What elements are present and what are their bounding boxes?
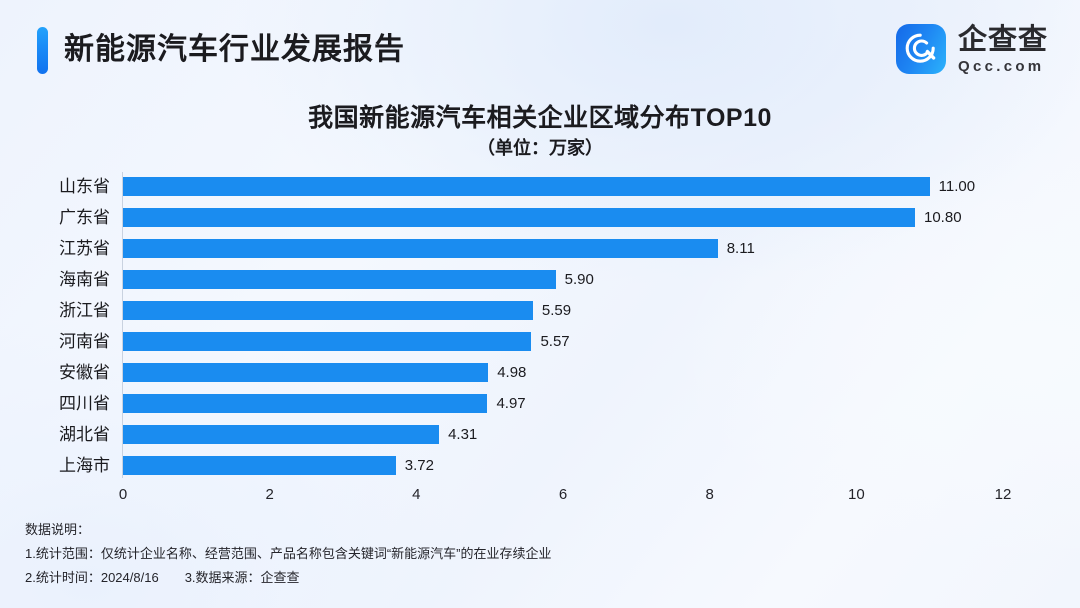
bar-row: 上海市3.72 bbox=[0, 450, 1080, 481]
bar-value-label: 10.80 bbox=[924, 202, 962, 233]
x-axis: 024681012 bbox=[0, 484, 1080, 510]
bar[interactable] bbox=[123, 208, 915, 227]
bar-chart-plot: 山东省11.00广东省10.80江苏省8.11海南省5.90浙江省5.59河南省… bbox=[0, 168, 1080, 480]
bar-row: 广东省10.80 bbox=[0, 202, 1080, 233]
footnote-time-source: 2.统计时间：2024/8/163.数据来源：企查查 bbox=[25, 566, 1045, 590]
bar-category-label: 安徽省 bbox=[0, 357, 110, 388]
bar[interactable] bbox=[123, 332, 531, 351]
brand-name-cn: 企查查 bbox=[958, 24, 1048, 56]
x-axis-tick-label: 2 bbox=[240, 484, 300, 506]
chart-subtitle: （单位：万家） bbox=[0, 134, 1080, 160]
bar[interactable] bbox=[123, 177, 930, 196]
footnote-source: 3.数据来源：企查查 bbox=[185, 570, 300, 585]
footnote-time: 2.统计时间：2024/8/16 bbox=[25, 570, 159, 585]
bar-category-label: 江苏省 bbox=[0, 233, 110, 264]
bar-row: 安徽省4.98 bbox=[0, 357, 1080, 388]
bar[interactable] bbox=[123, 239, 718, 258]
bar-category-label: 海南省 bbox=[0, 264, 110, 295]
bar[interactable] bbox=[123, 301, 533, 320]
bar-row: 湖北省4.31 bbox=[0, 419, 1080, 450]
bar-row: 浙江省5.59 bbox=[0, 295, 1080, 326]
footnote-scope: 1.统计范围：仅统计企业名称、经营范围、产品名称包含关键词“新能源汽车”的在业存… bbox=[25, 542, 1045, 566]
bar-value-label: 8.11 bbox=[727, 233, 755, 264]
bar[interactable] bbox=[123, 425, 439, 444]
bar-value-label: 5.57 bbox=[540, 326, 569, 357]
x-axis-tick-label: 0 bbox=[93, 484, 153, 506]
bar-category-label: 山东省 bbox=[0, 171, 110, 202]
bar[interactable] bbox=[123, 394, 487, 413]
bar-value-label: 4.98 bbox=[497, 357, 526, 388]
bar[interactable] bbox=[123, 363, 488, 382]
bar-category-label: 浙江省 bbox=[0, 295, 110, 326]
page-title: 新能源汽车行业发展报告 bbox=[64, 28, 405, 72]
bar-value-label: 4.97 bbox=[496, 388, 525, 419]
bar-category-label: 河南省 bbox=[0, 326, 110, 357]
bar-category-label: 四川省 bbox=[0, 388, 110, 419]
x-axis-tick-label: 6 bbox=[533, 484, 593, 506]
bar-value-label: 5.90 bbox=[565, 264, 594, 295]
bar-category-label: 上海市 bbox=[0, 450, 110, 481]
bar-row: 山东省11.00 bbox=[0, 171, 1080, 202]
bar-row: 河南省5.57 bbox=[0, 326, 1080, 357]
report-page: 新能源汽车行业发展报告 企查查 Qcc.com 我国新能源汽车相关企业区域分布T… bbox=[0, 0, 1080, 608]
bar-row: 四川省4.97 bbox=[0, 388, 1080, 419]
bar[interactable] bbox=[123, 456, 396, 475]
brand-logo[interactable]: 企查查 Qcc.com bbox=[896, 23, 1048, 75]
page-header: 新能源汽车行业发展报告 企查查 Qcc.com bbox=[0, 0, 1080, 96]
bar-value-label: 5.59 bbox=[542, 295, 571, 326]
bar-value-label: 3.72 bbox=[405, 450, 434, 481]
bar-row: 江苏省8.11 bbox=[0, 233, 1080, 264]
x-axis-tick-label: 4 bbox=[386, 484, 446, 506]
brand-wordmark: 企查查 Qcc.com bbox=[958, 24, 1048, 75]
x-axis-tick-label: 8 bbox=[680, 484, 740, 506]
bar[interactable] bbox=[123, 270, 556, 289]
title-accent-bar bbox=[37, 27, 48, 74]
brand-name-en: Qcc.com bbox=[958, 58, 1048, 75]
x-axis-tick-label: 10 bbox=[826, 484, 886, 506]
bar-row: 海南省5.90 bbox=[0, 264, 1080, 295]
chart-title: 我国新能源汽车相关企业区域分布TOP10 bbox=[0, 98, 1080, 134]
x-axis-tick-label: 12 bbox=[973, 484, 1033, 506]
bar-category-label: 湖北省 bbox=[0, 419, 110, 450]
qcc-logo-icon bbox=[896, 24, 946, 74]
bar-category-label: 广东省 bbox=[0, 202, 110, 233]
bar-value-label: 11.00 bbox=[939, 171, 975, 202]
footnote-heading: 数据说明： bbox=[25, 518, 1045, 542]
footnotes: 数据说明： 1.统计范围：仅统计企业名称、经营范围、产品名称包含关键词“新能源汽… bbox=[25, 518, 1045, 590]
bar-value-label: 4.31 bbox=[448, 419, 477, 450]
